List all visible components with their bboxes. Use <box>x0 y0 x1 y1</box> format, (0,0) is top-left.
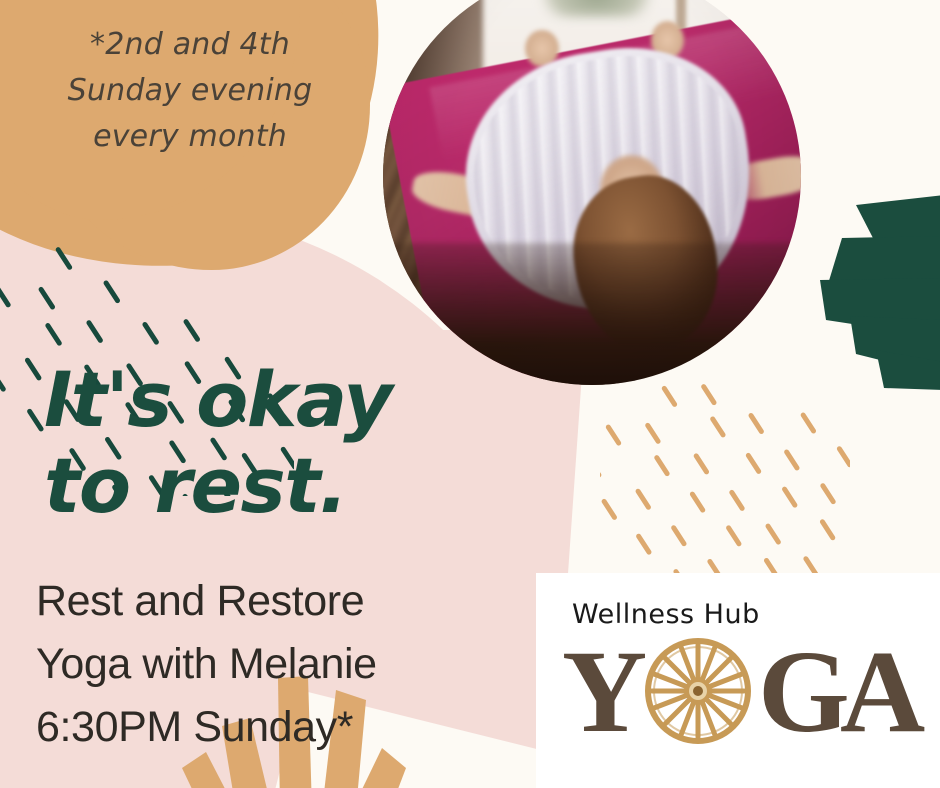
detail-time: 6:30PM Sunday* <box>36 696 506 759</box>
logo-wordmark: Y G A <box>562 633 922 753</box>
logo-letter-g: G <box>758 633 850 751</box>
logo-letter-y: Y <box>562 633 647 751</box>
page-title: It's okay to rest. <box>44 360 444 526</box>
yoga-savasana-photo <box>383 0 801 385</box>
headline-line-2: to rest. <box>44 446 444 526</box>
headline-line-1: It's okay <box>44 355 391 444</box>
logo-card: Wellness Hub Y G A <box>536 573 940 788</box>
poster-canvas: *2nd and 4th Sunday evening every month … <box>0 0 940 788</box>
class-details: Rest and Restore Yoga with Melanie 6:30P… <box>36 570 506 759</box>
wagon-wheel-icon <box>644 637 752 745</box>
tan-dash-pattern <box>600 360 850 580</box>
detail-instructor: Yoga with Melanie <box>36 633 506 696</box>
detail-class-name: Rest and Restore <box>36 570 506 633</box>
schedule-note: *2nd and 4th Sunday evening every month <box>62 22 318 160</box>
monstera-leaf-icon <box>812 192 940 390</box>
logo-letter-a: A <box>840 633 925 751</box>
